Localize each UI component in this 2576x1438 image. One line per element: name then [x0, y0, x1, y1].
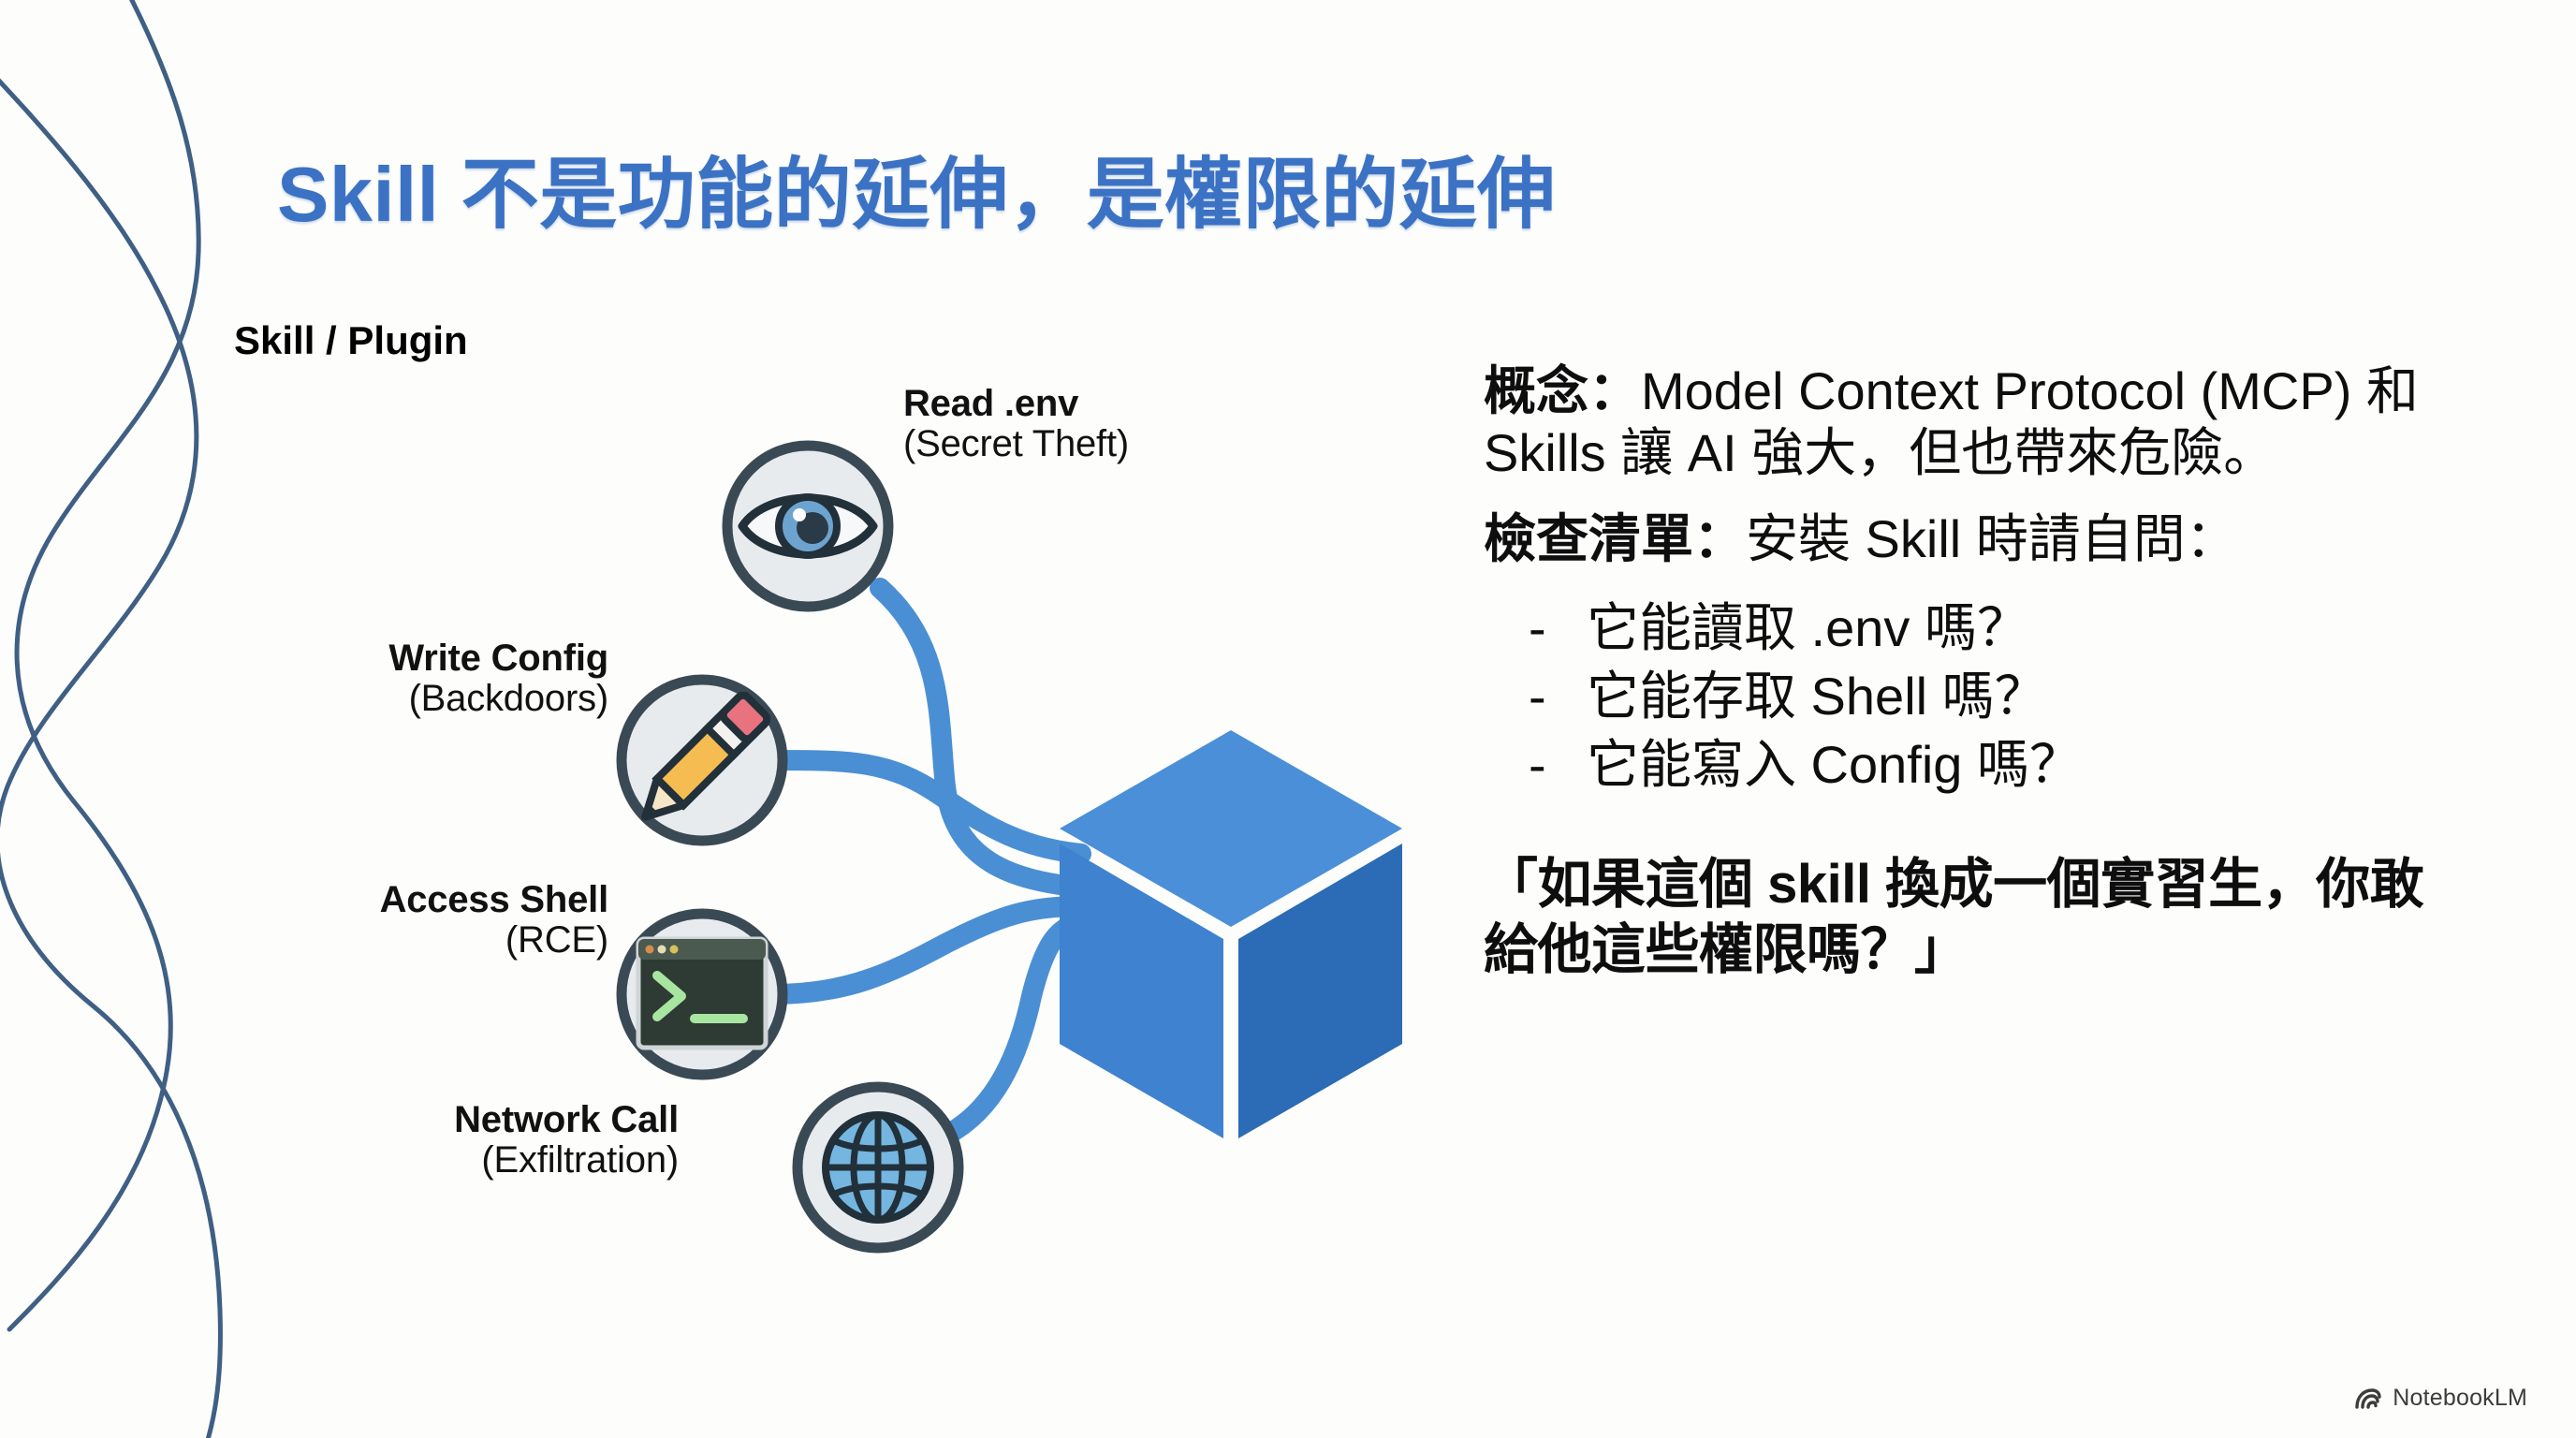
slide-canvas: Skill 不是功能的延伸，是權限的延伸 — [0, 0, 2576, 1438]
pull-quote: 「如果這個 skill 換成一個實習生，你敢給他這些權限嗎？」 — [1484, 852, 2476, 985]
bullet-dash: - — [1529, 731, 1587, 800]
checklist-item: - 它能寫入 Config 嗎？ — [1529, 731, 2476, 800]
node-label-title: Network Call — [234, 1100, 679, 1140]
concept-paragraph: 概念：Model Context Protocol (MCP) 和 Skills… — [1484, 360, 2476, 484]
node-label-read-env: Read .env (Secret Theft) — [903, 384, 1129, 464]
node-label-access-shell: Access Shell (RCE) — [234, 880, 608, 961]
concept-lead: 概念： — [1484, 361, 1641, 420]
connector-pencil-to-cube — [772, 760, 1081, 854]
bullet-dash: - — [1529, 594, 1587, 663]
checklist-body: 安裝 Skill 時請自問： — [1746, 509, 2238, 568]
terminal-node — [622, 914, 783, 1075]
checklist-item-text: 它能寫入 Config 嗎？ — [1587, 731, 2082, 800]
notebooklm-logo-icon — [2354, 1387, 2382, 1411]
node-label-title: Access Shell — [234, 880, 608, 920]
eye-node — [727, 446, 888, 607]
cube-icon — [1060, 730, 1402, 1138]
checklist-item: - 它能存取 Shell 嗎？ — [1529, 663, 2476, 731]
node-label-subtitle: (RCE) — [234, 920, 608, 961]
text-column: 概念：Model Context Protocol (MCP) 和 Skills… — [1484, 360, 2476, 984]
node-label-write-config: Write Config (Backdoors) — [234, 638, 608, 719]
globe-node — [798, 1087, 959, 1248]
checklist-item: - 它能讀取 .env 嗎？ — [1529, 594, 2476, 663]
permission-graph-diagram: Read .env (Secret Theft) Write Config (B… — [234, 318, 1479, 1367]
node-label-subtitle: (Exfiltration) — [234, 1140, 679, 1181]
checklist-heading: 檢查清單：安裝 Skill 時請自問： — [1484, 508, 2476, 570]
checklist-items: - 它能讀取 .env 嗎？ - 它能存取 Shell 嗎？ - 它能寫入 Co… — [1529, 594, 2476, 799]
bullet-dash: - — [1529, 663, 1587, 731]
node-label-network-call: Network Call (Exfiltration) — [234, 1100, 679, 1181]
node-label-subtitle: (Backdoors) — [234, 679, 608, 719]
checklist-item-text: 它能讀取 .env 嗎？ — [1587, 594, 2029, 663]
watermark-label: NotebookLM — [2393, 1385, 2527, 1412]
node-label-subtitle: (Secret Theft) — [903, 424, 1129, 464]
connector-curves — [772, 588, 1081, 1135]
pencil-node — [622, 680, 783, 841]
node-label-title: Read .env — [903, 384, 1129, 424]
node-label-title: Write Config — [234, 638, 608, 679]
diagram-graphics — [234, 318, 1479, 1367]
checklist-lead: 檢查清單： — [1484, 509, 1746, 568]
slide-title: Skill 不是功能的延伸，是權限的延伸 — [277, 131, 1556, 243]
checklist-item-text: 它能存取 Shell 嗎？ — [1587, 663, 2047, 731]
notebooklm-watermark: NotebookLM — [2354, 1385, 2527, 1412]
decorative-wave-lines — [0, 0, 262, 1438]
